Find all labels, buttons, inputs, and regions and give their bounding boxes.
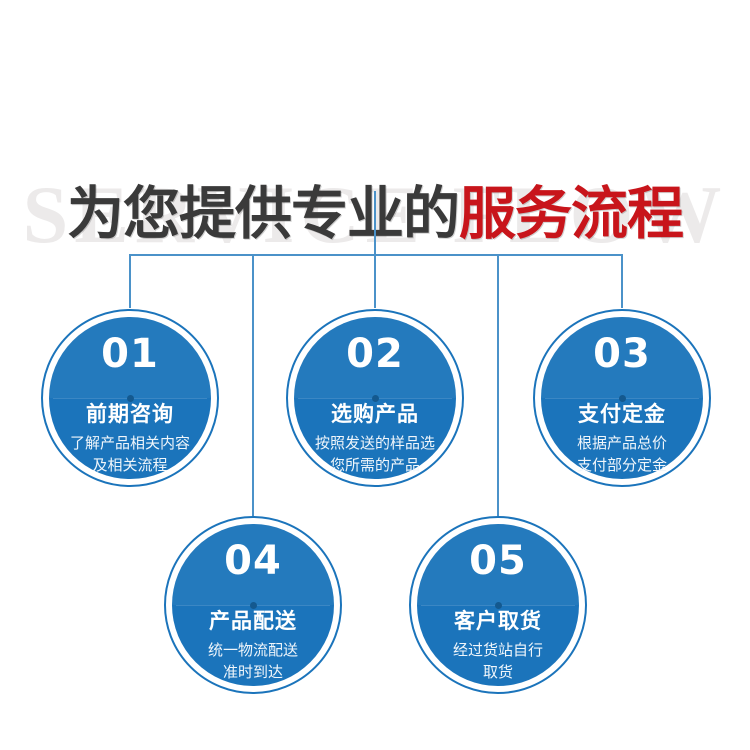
step-title-05: 客户取货 [411, 611, 585, 632]
step-desc-04-line1: 统一物流配送 [168, 640, 338, 662]
step-number-02: 02 [288, 334, 462, 374]
step-dot-icon [250, 602, 257, 609]
connector-drop-step1 [129, 254, 131, 308]
step-dot-icon [127, 395, 134, 402]
headline-red-part: 服务流程 [459, 181, 683, 247]
connector-bus-horizontal [129, 254, 623, 256]
step-desc-05-line1: 经过货站自行 [413, 640, 583, 662]
headline-dark-part: 为您提供专业的 [67, 181, 459, 247]
step-node-04[interactable]: 04 产品配送 统一物流配送 准时到达 [164, 516, 342, 694]
step-title-01: 前期咨询 [43, 404, 217, 425]
step-node-03[interactable]: 03 支付定金 根据产品总价 支付部分定金 [533, 309, 711, 487]
step-title-02: 选购产品 [288, 404, 462, 425]
step-desc-01-line1: 了解产品相关内容 [45, 433, 215, 455]
step-node-02[interactable]: 02 选购产品 按照发送的样品选 您所需的产品 [286, 309, 464, 487]
step-desc-03-line1: 根据产品总价 [537, 433, 707, 455]
connector-drop-step5 [497, 254, 499, 516]
step-desc-01-line2: 及相关流程 [45, 455, 215, 477]
step-dot-icon [372, 395, 379, 402]
step-number-05: 05 [411, 541, 585, 581]
step-number-04: 04 [166, 541, 340, 581]
step-node-05[interactable]: 05 客户取货 经过货站自行 取货 [409, 516, 587, 694]
step-desc-05-line2: 取货 [413, 662, 583, 684]
step-desc-05: 经过货站自行 取货 [413, 640, 583, 684]
connector-drop-step3 [621, 254, 623, 308]
step-node-01[interactable]: 01 前期咨询 了解产品相关内容 及相关流程 [41, 309, 219, 487]
step-desc-03-line2: 支付部分定金 [537, 455, 707, 477]
step-desc-03: 根据产品总价 支付部分定金 [537, 433, 707, 477]
service-flow-infographic: SERVICE FLOW 为您提供专业的服务流程 01 前期咨询 了解产品相关内… [0, 0, 750, 750]
step-dot-icon [495, 602, 502, 609]
step-desc-02: 按照发送的样品选 您所需的产品 [290, 433, 460, 477]
connector-stem-vertical [374, 191, 376, 255]
step-dot-icon [619, 395, 626, 402]
step-desc-04: 统一物流配送 准时到达 [168, 640, 338, 684]
connector-drop-step2 [374, 254, 376, 308]
step-number-03: 03 [535, 334, 709, 374]
step-number-01: 01 [43, 334, 217, 374]
step-desc-04-line2: 准时到达 [168, 662, 338, 684]
step-desc-01: 了解产品相关内容 及相关流程 [45, 433, 215, 477]
connector-drop-step4 [252, 254, 254, 516]
step-desc-02-line2: 您所需的产品 [290, 455, 460, 477]
step-title-03: 支付定金 [535, 404, 709, 425]
step-title-04: 产品配送 [166, 611, 340, 632]
step-desc-02-line1: 按照发送的样品选 [290, 433, 460, 455]
page-title: SERVICE FLOW 为您提供专业的服务流程 [0, 86, 750, 186]
